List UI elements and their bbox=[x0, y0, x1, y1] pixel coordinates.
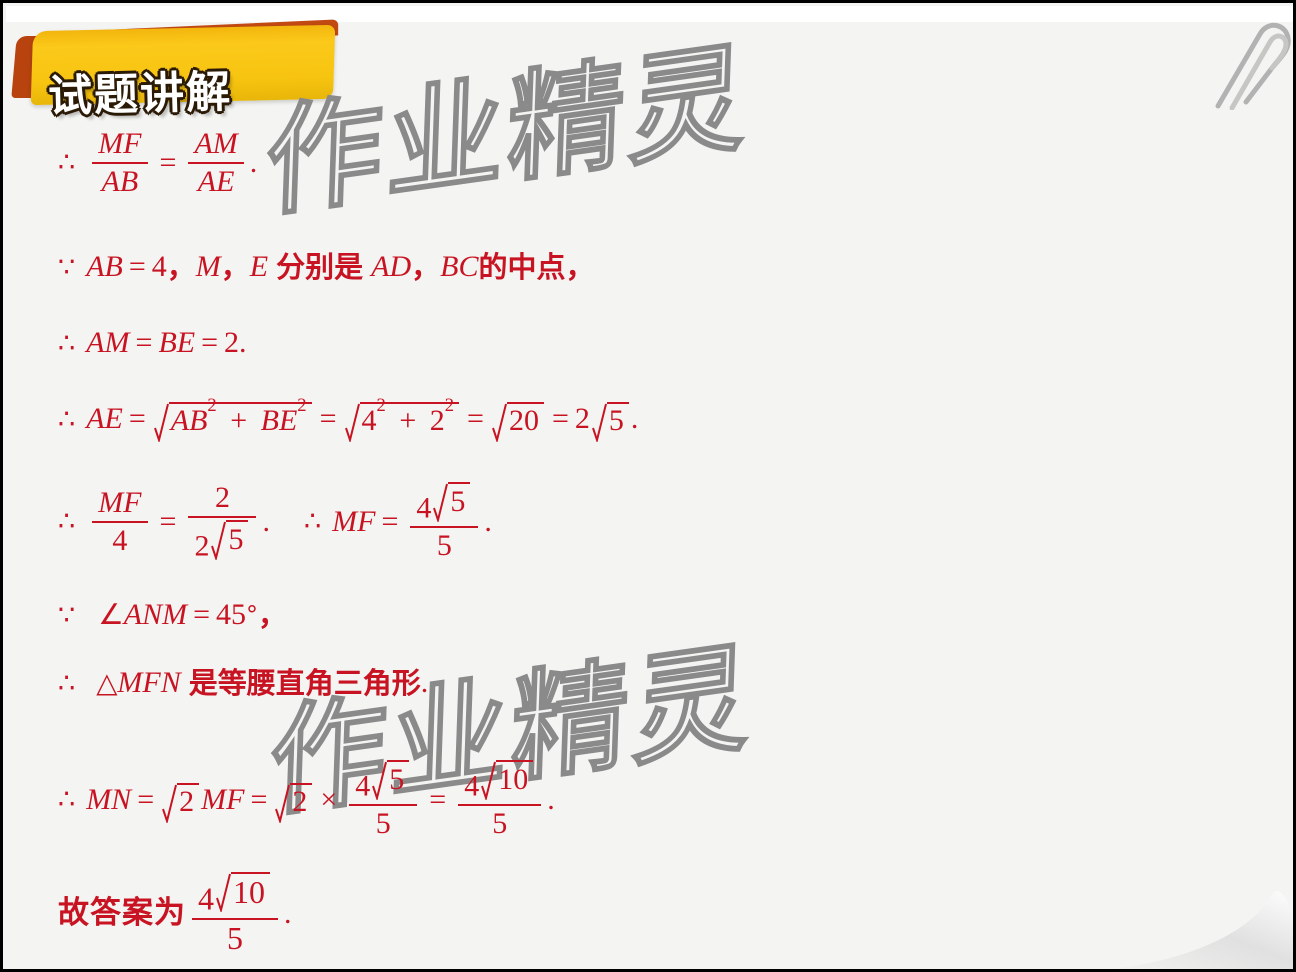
fraction-answer-4root10-over-5: 410 5 bbox=[192, 872, 278, 956]
therefore-symbol: ∴ bbox=[58, 786, 75, 813]
segment-bc: BC bbox=[440, 252, 478, 282]
solution-line-6: ∵ ∠ ANM = 45 ° ， bbox=[58, 600, 287, 630]
page-title: 试题讲解 bbox=[47, 56, 233, 125]
period: . bbox=[484, 507, 492, 537]
text-midpoints: 的中点， bbox=[479, 253, 595, 282]
paper-sheet: 试题讲解 作业精灵 作业精灵 ∴ MF AB = bbox=[6, 6, 1296, 972]
therefore-symbol: ∴ bbox=[58, 406, 75, 433]
equals-sign: = bbox=[429, 785, 446, 815]
answer-label: 故答案为 bbox=[58, 898, 186, 929]
segment-mf: MF bbox=[332, 507, 375, 537]
solution-line-final-answer: 故答案为 410 5 . bbox=[58, 872, 292, 956]
radical-4sq-plus-2sq: 42 + 22 bbox=[345, 402, 460, 436]
equals-sign: = bbox=[160, 148, 177, 178]
watermark-top: 作业精灵 bbox=[263, 6, 752, 240]
radical-hook-icon bbox=[216, 872, 231, 910]
radical-hook-icon bbox=[433, 482, 448, 518]
therefore-symbol: ∴ bbox=[58, 149, 75, 176]
radical-5: 5 bbox=[372, 760, 409, 796]
radical-5: 5 bbox=[592, 402, 629, 436]
because-symbol: ∵ bbox=[58, 254, 75, 281]
paperclip-icon bbox=[1200, 10, 1292, 110]
equals-sign: = bbox=[320, 404, 337, 434]
coefficient-two: 2 bbox=[575, 404, 590, 434]
radical-hook-icon bbox=[372, 760, 387, 796]
radical-10: 10 bbox=[216, 872, 270, 910]
equals-sign: = bbox=[552, 404, 569, 434]
solution-line-7: ∴ △ MFN 是等腰直角三角形 . bbox=[58, 668, 428, 698]
solution-line-4: ∴ AE = AB2 + BE2 = bbox=[58, 402, 638, 436]
segment-am: AM bbox=[86, 328, 129, 358]
radical-hook-icon bbox=[275, 783, 290, 817]
therefore-symbol: ∴ bbox=[58, 670, 75, 697]
equals-sign: = bbox=[201, 328, 218, 358]
radical-hook-icon bbox=[211, 520, 226, 556]
segment-be: BE bbox=[158, 328, 195, 358]
solution-line-3: ∴ AM = BE = 2 . bbox=[58, 328, 247, 358]
radical-hook-icon bbox=[481, 760, 496, 796]
value-two: 2 bbox=[224, 328, 239, 358]
fraction-4root5-over-5: 45 5 bbox=[410, 482, 478, 562]
equals-sign: = bbox=[381, 507, 398, 537]
period: . bbox=[284, 899, 292, 929]
segment-mn: MN bbox=[86, 785, 131, 815]
solution-line-2: ∵ AB = 4 ， M ， E 分别是 AD ， BC 的中点， bbox=[58, 252, 595, 282]
equals-sign: = bbox=[137, 785, 154, 815]
radical-5: 5 bbox=[433, 482, 470, 518]
equals-sign: = bbox=[160, 507, 177, 537]
segment-ad: AD bbox=[371, 252, 411, 282]
equals-sign: = bbox=[129, 252, 146, 282]
angle-anm: ANM bbox=[124, 600, 187, 630]
comma: ， bbox=[167, 253, 196, 282]
value-four: 4 bbox=[152, 252, 167, 282]
degree-symbol: ° bbox=[246, 603, 258, 627]
radical-hook-icon bbox=[154, 402, 169, 436]
text-respectively: 分别是 bbox=[276, 253, 363, 282]
text-isosceles-right-triangle: 是等腰直角三角形 bbox=[189, 669, 421, 698]
radical-5: 5 bbox=[211, 520, 248, 556]
comma: ， bbox=[258, 601, 287, 630]
equals-sign: = bbox=[129, 404, 146, 434]
equals-sign: = bbox=[250, 785, 267, 815]
point-e: E bbox=[250, 252, 268, 282]
radical-hook-icon bbox=[162, 783, 177, 817]
radical-hook-icon bbox=[492, 402, 507, 436]
equals-sign: = bbox=[467, 404, 484, 434]
page-curl-icon bbox=[1096, 862, 1296, 972]
therefore-symbol: ∴ bbox=[304, 508, 321, 535]
fraction-am-ae: AM AE bbox=[188, 128, 243, 197]
radical-hook-icon bbox=[345, 402, 360, 436]
banner: 试题讲解 bbox=[14, 28, 334, 104]
fraction-4root10-over-5: 410 5 bbox=[458, 760, 541, 840]
fraction-mf-over-4: MF 4 bbox=[92, 487, 147, 556]
segment-mf: MF bbox=[201, 785, 244, 815]
period: . bbox=[239, 328, 247, 358]
solution-line-8: ∴ MN = 2 MF = 2 × 45 bbox=[58, 760, 555, 840]
sheet-top-edge bbox=[6, 6, 1296, 22]
segment-ae: AE bbox=[86, 404, 123, 434]
segment-ab: AB bbox=[86, 252, 123, 282]
radical-20: 20 bbox=[492, 402, 544, 436]
radical-2: 2 bbox=[162, 783, 199, 817]
radical-ab2-plus-be2: AB2 + BE2 bbox=[154, 402, 312, 436]
equals-sign: = bbox=[136, 328, 153, 358]
solution-line-1: ∴ MF AB = AM AE . bbox=[58, 128, 257, 197]
comma: ， bbox=[411, 253, 440, 282]
therefore-symbol: ∴ bbox=[58, 330, 75, 357]
fraction-mf-ab: MF AB bbox=[92, 128, 147, 197]
period: . bbox=[547, 785, 555, 815]
point-m: M bbox=[196, 252, 221, 282]
comma: ， bbox=[221, 253, 250, 282]
fraction-2-over-2root5: 2 25 bbox=[188, 482, 256, 562]
solution-line-5: ∴ MF 4 = 2 25 . ∴ MF = bbox=[58, 482, 492, 562]
triangle-symbol: △ bbox=[96, 669, 117, 697]
fraction-4root5-over-5: 45 5 bbox=[349, 760, 417, 840]
period: . bbox=[250, 148, 258, 178]
radical-hook-icon bbox=[592, 402, 607, 436]
because-symbol: ∵ bbox=[58, 602, 75, 629]
radical-2: 2 bbox=[275, 783, 312, 817]
equals-sign: = bbox=[193, 600, 210, 630]
triangle-mfn: MFN bbox=[117, 668, 180, 698]
angle-value: 45 bbox=[216, 600, 246, 630]
period: . bbox=[631, 404, 639, 434]
radical-10: 10 bbox=[481, 760, 533, 796]
angle-symbol: ∠ bbox=[98, 601, 124, 630]
therefore-symbol: ∴ bbox=[58, 508, 75, 535]
period: . bbox=[262, 507, 270, 537]
period: . bbox=[421, 668, 429, 698]
multiplication-sign: × bbox=[320, 785, 337, 815]
screenshot-page: 试题讲解 作业精灵 作业精灵 ∴ MF AB = bbox=[0, 0, 1296, 972]
